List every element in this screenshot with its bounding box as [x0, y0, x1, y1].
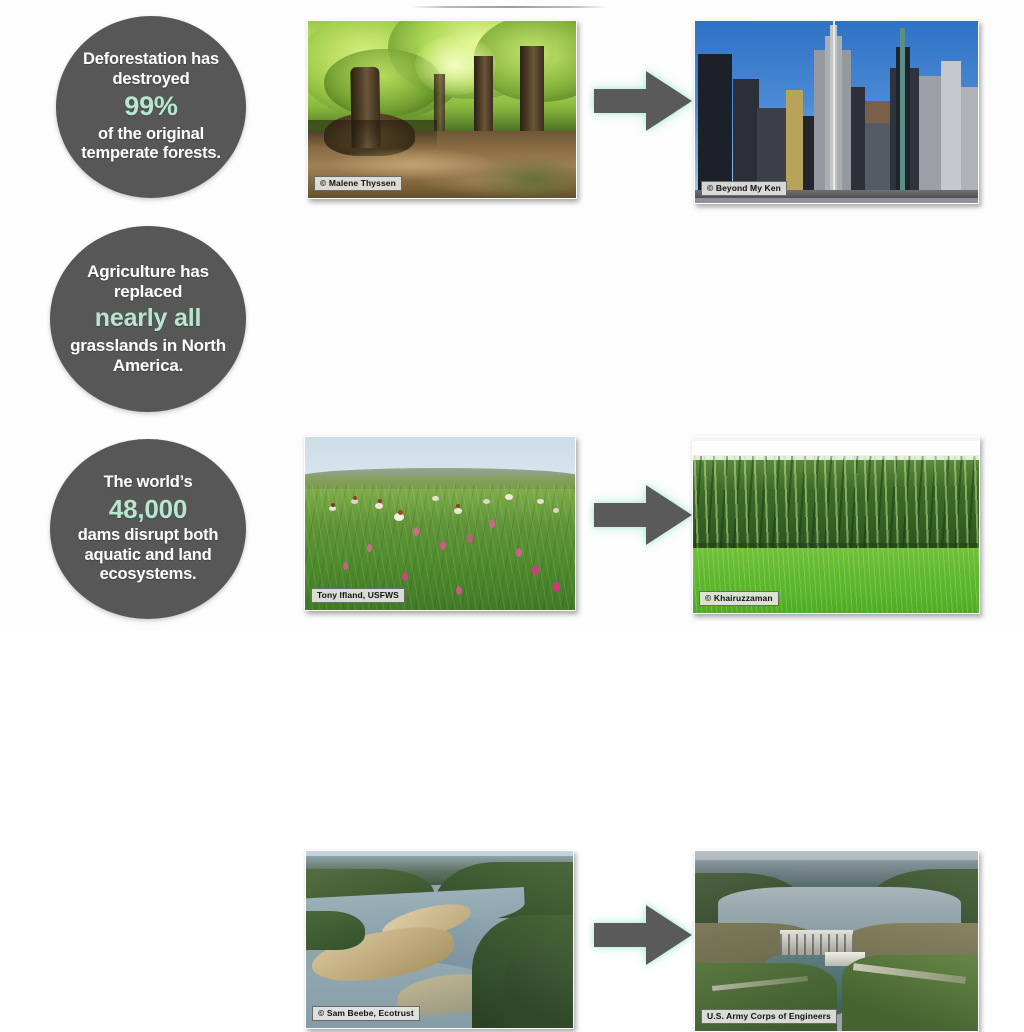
stat-circle-dams: The world’s 48,000 dams disrupt both aqu…	[50, 439, 246, 619]
dam-scene	[695, 851, 978, 1031]
stat-text: The world’s 48,000 dams disrupt both aqu…	[50, 473, 246, 585]
temperate-forest-photo: © Malene Thyssen	[307, 20, 577, 199]
photo-credit: © Sam Beebe, Ecotrust	[312, 1006, 420, 1021]
row-deforestation: Deforestation has destroyed 99% of the o…	[0, 0, 1024, 212]
row-dams: The world’s 48,000 dams disrupt both aqu…	[0, 414, 1024, 631]
row-grasslands: Agriculture has replaced nearly all gras…	[0, 208, 1024, 416]
city-scene	[695, 21, 978, 203]
stat-line-after: grasslands in North America.	[70, 336, 226, 375]
stat-line-before: The world’s	[104, 473, 193, 491]
transform-arrow-dams	[588, 896, 698, 974]
river-scene	[306, 851, 573, 1028]
stat-highlight: 48,000	[64, 493, 232, 527]
stat-circle-grasslands: Agriculture has replaced nearly all gras…	[50, 226, 246, 412]
photo-credit: Tony Ifland, USFWS	[311, 588, 405, 603]
stat-highlight: nearly all	[64, 302, 232, 336]
city-skyline-photo: © Beyond My Ken	[694, 20, 979, 204]
forest-scene	[308, 21, 576, 198]
photo-credit: © Malene Thyssen	[314, 176, 402, 191]
transform-arrow-deforestation	[588, 62, 698, 140]
photo-credit: © Khairuzzaman	[699, 591, 779, 606]
photo-credit: © Beyond My Ken	[701, 181, 787, 196]
stat-line-before: Deforestation has destroyed	[83, 50, 219, 87]
stat-line-after: dams disrupt both aquatic and land ecosy…	[78, 526, 219, 583]
dam-reservoir-photo: U.S. Army Corps of Engineers	[694, 850, 979, 1032]
stat-line-after: of the original temperate forests.	[81, 125, 220, 162]
stat-text: Deforestation has destroyed 99% of the o…	[56, 50, 246, 164]
photo-credit: U.S. Army Corps of Engineers	[701, 1009, 837, 1024]
stat-line-before: Agriculture has replaced	[87, 262, 209, 301]
free-flowing-river-photo: © Sam Beebe, Ecotrust	[305, 850, 574, 1029]
stat-highlight: 99%	[70, 89, 232, 125]
stat-circle-deforestation: Deforestation has destroyed 99% of the o…	[56, 16, 246, 198]
stat-text: Agriculture has replaced nearly all gras…	[50, 262, 246, 376]
